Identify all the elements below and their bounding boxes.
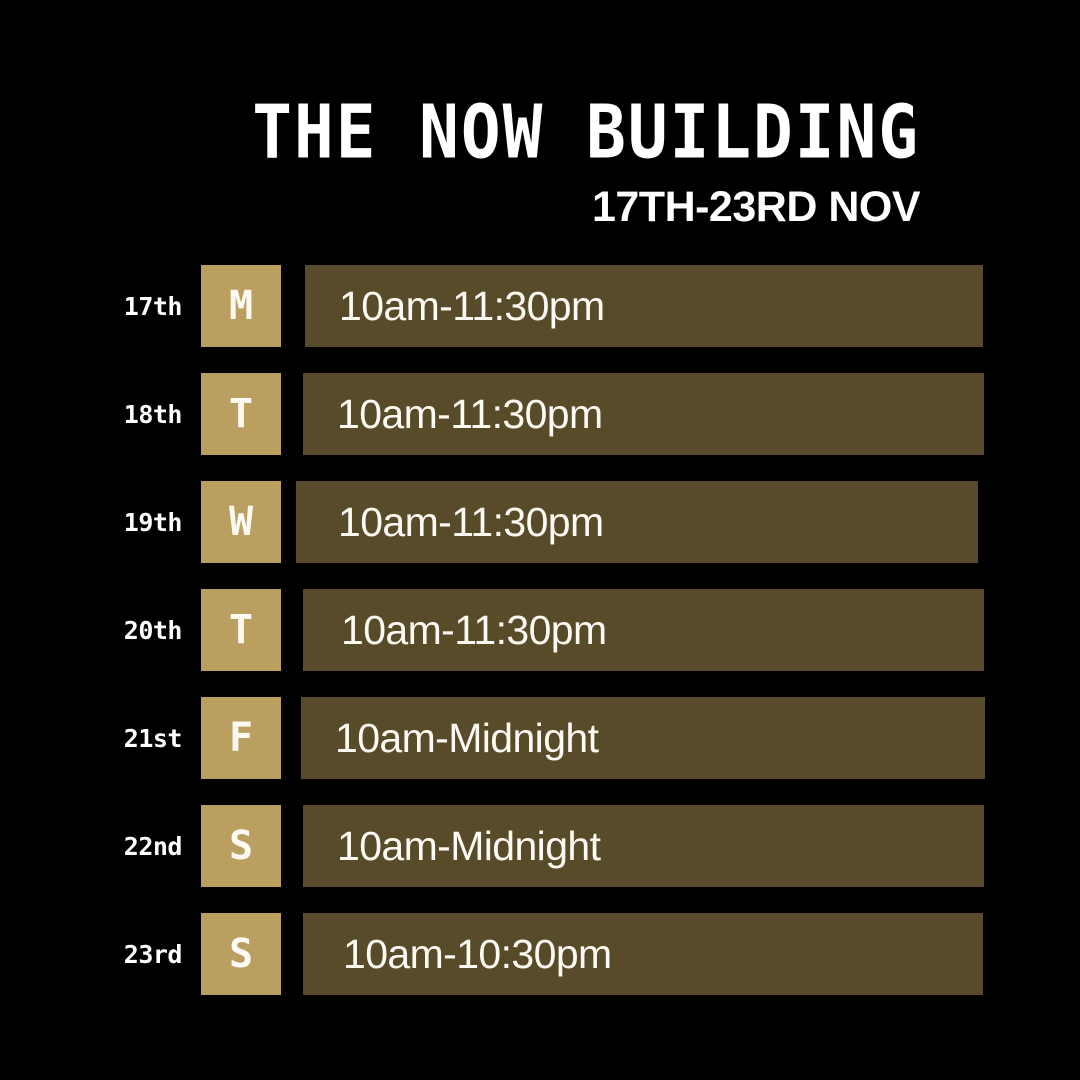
poster-header: THE NOW BUILDING 17TH-23RD NOV <box>0 96 920 229</box>
hours-text: 10am-10:30pm <box>303 931 612 978</box>
row-date-label: 21st <box>0 697 182 779</box>
day-initial-chip: F <box>201 697 281 779</box>
hours-bar: 10am-11:30pm <box>296 481 978 563</box>
row-date-label: 22nd <box>0 805 182 887</box>
day-initial-chip: M <box>201 265 281 347</box>
hours-text: 10am-Midnight <box>303 823 600 870</box>
schedule-row: 19th W 10am-11:30pm <box>0 481 1080 563</box>
hours-text: 10am-Midnight <box>301 715 598 762</box>
hours-bar: 10am-11:30pm <box>303 373 984 455</box>
schedule-row: 22nd S 10am-Midnight <box>0 805 1080 887</box>
row-date-label: 17th <box>0 265 182 347</box>
hours-text: 10am-11:30pm <box>296 499 604 546</box>
day-initial-chip: W <box>201 481 281 563</box>
row-date-label: 23rd <box>0 913 182 995</box>
day-initial-chip: S <box>201 913 281 995</box>
hours-bar: 10am-11:30pm <box>303 589 984 671</box>
row-date-label: 19th <box>0 481 182 563</box>
schedule-row: 18th T 10am-11:30pm <box>0 373 1080 455</box>
hours-bar: 10am-Midnight <box>301 697 985 779</box>
day-initial-chip: T <box>201 589 281 671</box>
schedule-row: 23rd S 10am-10:30pm <box>0 913 1080 995</box>
hours-bar: 10am-10:30pm <box>303 913 983 995</box>
schedule-row: 20th T 10am-11:30pm <box>0 589 1080 671</box>
schedule-row: 21st F 10am-Midnight <box>0 697 1080 779</box>
page-title: THE NOW BUILDING <box>0 96 920 170</box>
hours-text: 10am-11:30pm <box>303 607 607 654</box>
day-initial-chip: T <box>201 373 281 455</box>
opening-hours-schedule: 17th M 10am-11:30pm 18th T 10am-11:30pm … <box>0 265 1080 1021</box>
date-range-subtitle: 17TH-23RD NOV <box>0 186 920 229</box>
hours-bar: 10am-Midnight <box>303 805 984 887</box>
poster-canvas: THE NOW BUILDING 17TH-23RD NOV 17th M 10… <box>0 0 1080 1080</box>
hours-bar: 10am-11:30pm <box>305 265 983 347</box>
row-date-label: 18th <box>0 373 182 455</box>
hours-text: 10am-11:30pm <box>303 391 603 438</box>
schedule-row: 17th M 10am-11:30pm <box>0 265 1080 347</box>
hours-text: 10am-11:30pm <box>305 283 605 330</box>
row-date-label: 20th <box>0 589 182 671</box>
day-initial-chip: S <box>201 805 281 887</box>
